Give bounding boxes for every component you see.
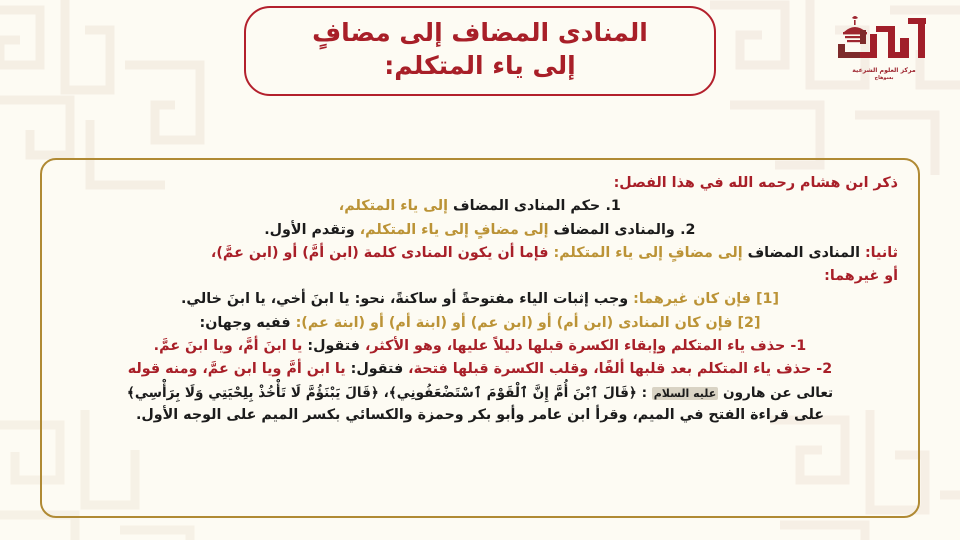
brand-logo: مركز العلوم الشرعية بسوهاج — [826, 12, 942, 96]
verse-line: تعالى عن هارون عليه السلام : ﴿قَالَ ٱبْن… — [62, 382, 898, 404]
option-1-black: فتقول: — [307, 338, 360, 354]
closing-text: على قراءة الفتح في الميم، وقرأ ابن عامر … — [136, 407, 824, 423]
option-2-number: 2- — [816, 358, 832, 381]
title-line-1: المنادى المضاف إلى مضافٍ — [312, 16, 648, 49]
case-line: [1] فإن كان غيرهما: وجب إثبات الياء مفتو… — [62, 288, 898, 311]
item-1-gold: إلى ياء المتكلم، — [339, 198, 448, 214]
option-1-red-2: يا ابنَ أمَّ، ويا ابنَ عمَّ. — [154, 338, 303, 354]
item-2-number: 2. — [680, 219, 696, 242]
option-2-red-1: حذف ياء المتكلم بعد قلبها ألفًا، وقلب ال… — [408, 361, 811, 377]
slide-title-box: المنادى المضاف إلى مضافٍ إلى ياء المتكلم… — [244, 6, 716, 96]
second-heading-continuation: أو غيرهما: — [62, 265, 898, 288]
list-item: 1. حكم المنادى المضاف إلى ياء المتكلم، — [62, 195, 898, 218]
second-heading-line: ثانيا: المنادى المضاف إلى مضافٍ إلى ياء … — [62, 242, 898, 265]
second-heading-red-tail: فإما أن يكون المنادى كلمة (ابن أمَّ) أو … — [211, 245, 549, 261]
title-line-2: إلى ياء المتكلم: — [312, 49, 648, 82]
honorific-marker: عليه السلام — [652, 387, 719, 400]
case-1-head: [1] فإن كان غيرهما: — [633, 291, 779, 307]
item-1-number: 1. — [605, 195, 621, 218]
option-1-red-1: حذف ياء المتكلم وإبقاء الكسرة قبلها دليل… — [365, 338, 785, 354]
verse-lead: تعالى عن هارون — [723, 385, 833, 401]
closing-line: على قراءة الفتح في الميم، وقرأ ابن عامر … — [62, 404, 898, 427]
quran-verse-1: ﴿قَالَ ٱبْنَ أُمَّ إِنَّ ٱلْقَوْمَ ٱسْتَ… — [384, 385, 637, 401]
option-line: 2- حذف ياء المتكلم بعد قلبها ألفًا، وقلب… — [62, 358, 898, 381]
option-2-red-2: يا ابن أمَّ ويا ابن عمَّ، ومنه قوله — [128, 361, 346, 377]
logo-subtitle-secondary: بسوهاج — [874, 75, 893, 82]
option-2-black: فتقول: — [351, 361, 404, 377]
ihkam-logo-icon — [830, 12, 938, 66]
case-1-body: وجب إثبات الياء مفتوحةً أو ساكنةً، نحو: … — [181, 291, 628, 307]
case-2-body: ففيه وجهان: — [200, 315, 291, 331]
second-heading-red-cont: أو غيرهما: — [824, 268, 898, 284]
item-2-black-tail: وتقدم الأول. — [264, 222, 355, 238]
verse-colon: : — [642, 385, 647, 401]
content-panel: ذكر ابن هشام رحمه الله في هذا الفصل: 1. … — [40, 158, 920, 518]
item-2-black: والمنادى المضاف — [554, 222, 675, 238]
option-line: 1- حذف ياء المتكلم وإبقاء الكسرة قبلها د… — [62, 335, 898, 358]
list-item: 2. والمنادى المضاف إلى مضافٍ إلى ياء الم… — [62, 219, 898, 242]
page-title: المنادى المضاف إلى مضافٍ إلى ياء المتكلم… — [312, 16, 648, 82]
item-1-black: حكم المنادى المضاف — [453, 198, 600, 214]
logo-subtitle: مركز العلوم الشرعية — [852, 67, 915, 75]
case-line: [2] فإن كان المنادى (ابن أم) أو (ابن عم)… — [62, 312, 898, 335]
option-1-number: 1- — [790, 335, 806, 358]
second-heading-label: ثانيا: — [865, 245, 898, 261]
intro-line: ذكر ابن هشام رحمه الله في هذا الفصل: — [62, 172, 898, 195]
second-heading-gold: إلى مضافٍ إلى ياء المتكلم: — [553, 245, 742, 261]
item-2-gold: إلى مضافٍ إلى ياء المتكلم، — [360, 222, 549, 238]
quran-verse-2: ﴿قَالَ يَبْنَؤُمَّ لَا تَأْخُذْ بِلِحْيَ… — [127, 385, 379, 401]
case-2-head: [2] فإن كان المنادى (ابن أم) أو (ابن عم)… — [296, 315, 761, 331]
second-heading-black: المنادى المضاف — [748, 245, 860, 261]
intro-text: ذكر ابن هشام رحمه الله في هذا الفصل: — [614, 175, 898, 191]
